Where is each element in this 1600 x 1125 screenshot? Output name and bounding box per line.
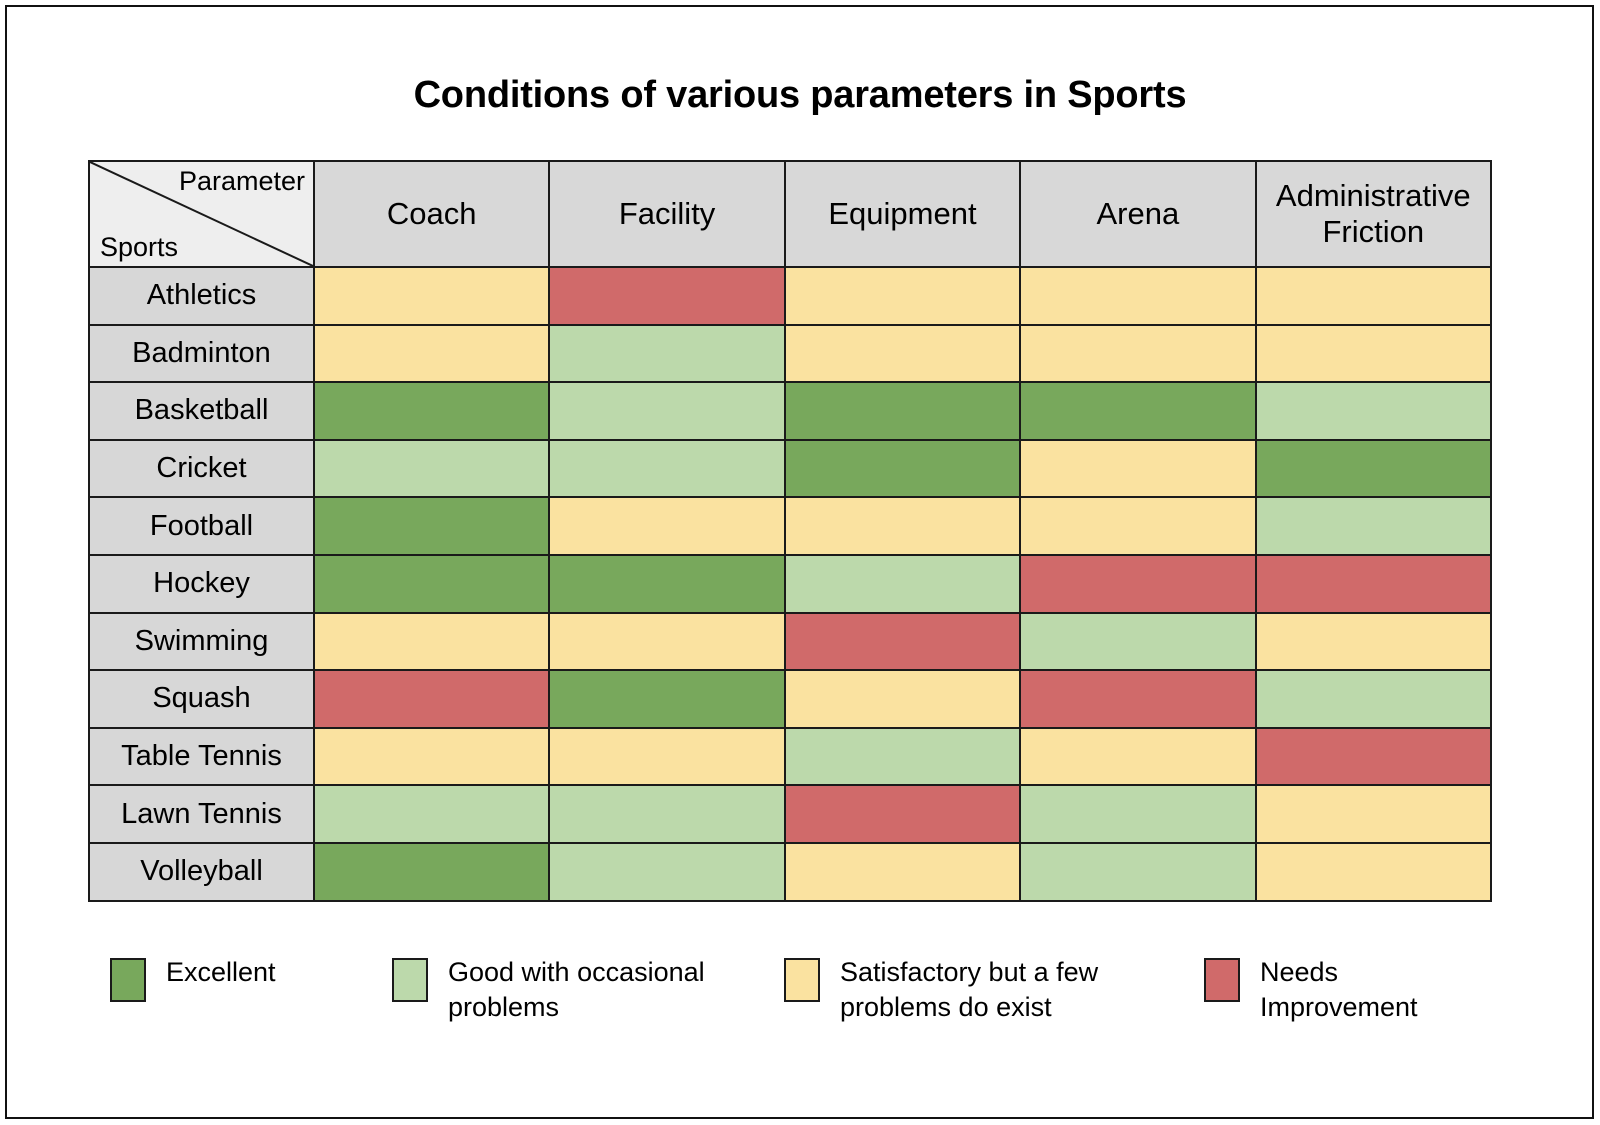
column-header-administrative-friction: Administrative Friction — [1256, 161, 1491, 267]
matrix-cell — [785, 440, 1020, 498]
matrix-cell — [1020, 267, 1255, 325]
matrix-cell — [785, 555, 1020, 613]
legend-label: Satisfactory but a few problems do exist — [840, 955, 1140, 1024]
matrix-cell — [549, 785, 784, 843]
matrix-cell — [314, 267, 549, 325]
matrix-chart-page: Conditions of various parameters in Spor… — [0, 0, 1600, 1125]
matrix-cell — [785, 267, 1020, 325]
table-row: Swimming — [89, 613, 1491, 671]
matrix-cell — [549, 497, 784, 555]
corner-sports-label: Sports — [100, 233, 178, 261]
matrix-cell — [549, 382, 784, 440]
matrix-cell — [549, 555, 784, 613]
matrix-cell — [1256, 267, 1491, 325]
row-header-squash: Squash — [89, 670, 314, 728]
header-row: Parameter Sports Coach Facility Equipmen… — [89, 161, 1491, 267]
matrix-cell — [1256, 382, 1491, 440]
row-header-cricket: Cricket — [89, 440, 314, 498]
table-row: Cricket — [89, 440, 1491, 498]
legend-label: Excellent — [166, 955, 276, 990]
matrix-cell — [785, 785, 1020, 843]
matrix-cell — [1020, 670, 1255, 728]
row-header-lawn-tennis: Lawn Tennis — [89, 785, 314, 843]
row-header-volleyball: Volleyball — [89, 843, 314, 901]
matrix-cell — [314, 670, 549, 728]
row-header-hockey: Hockey — [89, 555, 314, 613]
legend-swatch-icon — [392, 958, 428, 1002]
matrix-header: Parameter Sports Coach Facility Equipmen… — [89, 161, 1491, 267]
matrix-cell — [1256, 728, 1491, 786]
matrix-cell — [785, 325, 1020, 383]
matrix-cell — [314, 440, 549, 498]
matrix-cell — [785, 497, 1020, 555]
corner-parameter-label: Parameter — [179, 167, 305, 195]
table-row: Badminton — [89, 325, 1491, 383]
matrix-cell — [1020, 785, 1255, 843]
matrix-cell — [1020, 325, 1255, 383]
table-row: Basketball — [89, 382, 1491, 440]
matrix-cell — [549, 728, 784, 786]
legend-swatch-icon — [1204, 958, 1240, 1002]
matrix-cell — [1256, 613, 1491, 671]
conditions-matrix-table: Parameter Sports Coach Facility Equipmen… — [88, 160, 1492, 902]
matrix-cell — [314, 843, 549, 901]
legend-swatch-icon — [110, 958, 146, 1002]
matrix-cell — [549, 843, 784, 901]
legend-label: Good with occasional problems — [448, 955, 738, 1024]
table-row: Squash — [89, 670, 1491, 728]
matrix-body: AthleticsBadmintonBasketballCricketFootb… — [89, 267, 1491, 901]
row-header-football: Football — [89, 497, 314, 555]
matrix-cell — [785, 728, 1020, 786]
matrix-cell — [1256, 440, 1491, 498]
matrix-cell — [1020, 613, 1255, 671]
table-row: Hockey — [89, 555, 1491, 613]
corner-header-cell: Parameter Sports — [89, 161, 314, 267]
matrix-cell — [785, 613, 1020, 671]
matrix-cell — [1256, 325, 1491, 383]
row-header-table-tennis: Table Tennis — [89, 728, 314, 786]
matrix-cell — [1256, 785, 1491, 843]
matrix-cell — [314, 613, 549, 671]
matrix-cell — [314, 728, 549, 786]
matrix-cell — [314, 785, 549, 843]
matrix-cell — [1256, 555, 1491, 613]
table-row: Football — [89, 497, 1491, 555]
column-header-coach: Coach — [314, 161, 549, 267]
legend: ExcellentGood with occasional problemsSa… — [110, 955, 1510, 1024]
row-header-swimming: Swimming — [89, 613, 314, 671]
page-title: Conditions of various parameters in Spor… — [0, 74, 1600, 117]
matrix-cell — [1020, 440, 1255, 498]
matrix-cell — [1256, 670, 1491, 728]
matrix-cell — [314, 497, 549, 555]
matrix-cell — [314, 555, 549, 613]
row-header-badminton: Badminton — [89, 325, 314, 383]
matrix-cell — [1256, 497, 1491, 555]
matrix-cell — [549, 670, 784, 728]
matrix-cell — [1020, 843, 1255, 901]
matrix-cell — [314, 382, 549, 440]
legend-item-satisfactory: Satisfactory but a few problems do exist — [784, 955, 1204, 1024]
legend-item-good: Good with occasional problems — [392, 955, 784, 1024]
legend-item-excellent: Excellent — [110, 955, 392, 1002]
column-header-arena: Arena — [1020, 161, 1255, 267]
matrix-cell — [549, 613, 784, 671]
legend-item-needs-improvement: Needs Improvement — [1204, 955, 1504, 1024]
matrix-cell — [549, 267, 784, 325]
matrix-cell — [1020, 497, 1255, 555]
matrix-cell — [785, 843, 1020, 901]
legend-label: Needs Improvement — [1260, 955, 1490, 1024]
matrix-cell — [549, 325, 784, 383]
matrix-cell — [314, 325, 549, 383]
column-header-equipment: Equipment — [785, 161, 1020, 267]
matrix-cell — [1256, 843, 1491, 901]
legend-swatch-icon — [784, 958, 820, 1002]
matrix-cell — [1020, 728, 1255, 786]
table-row: Volleyball — [89, 843, 1491, 901]
matrix-cell — [549, 440, 784, 498]
matrix-cell — [1020, 382, 1255, 440]
table-row: Lawn Tennis — [89, 785, 1491, 843]
matrix-cell — [1020, 555, 1255, 613]
matrix-cell — [785, 382, 1020, 440]
row-header-athletics: Athletics — [89, 267, 314, 325]
matrix-cell — [785, 670, 1020, 728]
table-row: Athletics — [89, 267, 1491, 325]
table-row: Table Tennis — [89, 728, 1491, 786]
row-header-basketball: Basketball — [89, 382, 314, 440]
column-header-facility: Facility — [549, 161, 784, 267]
